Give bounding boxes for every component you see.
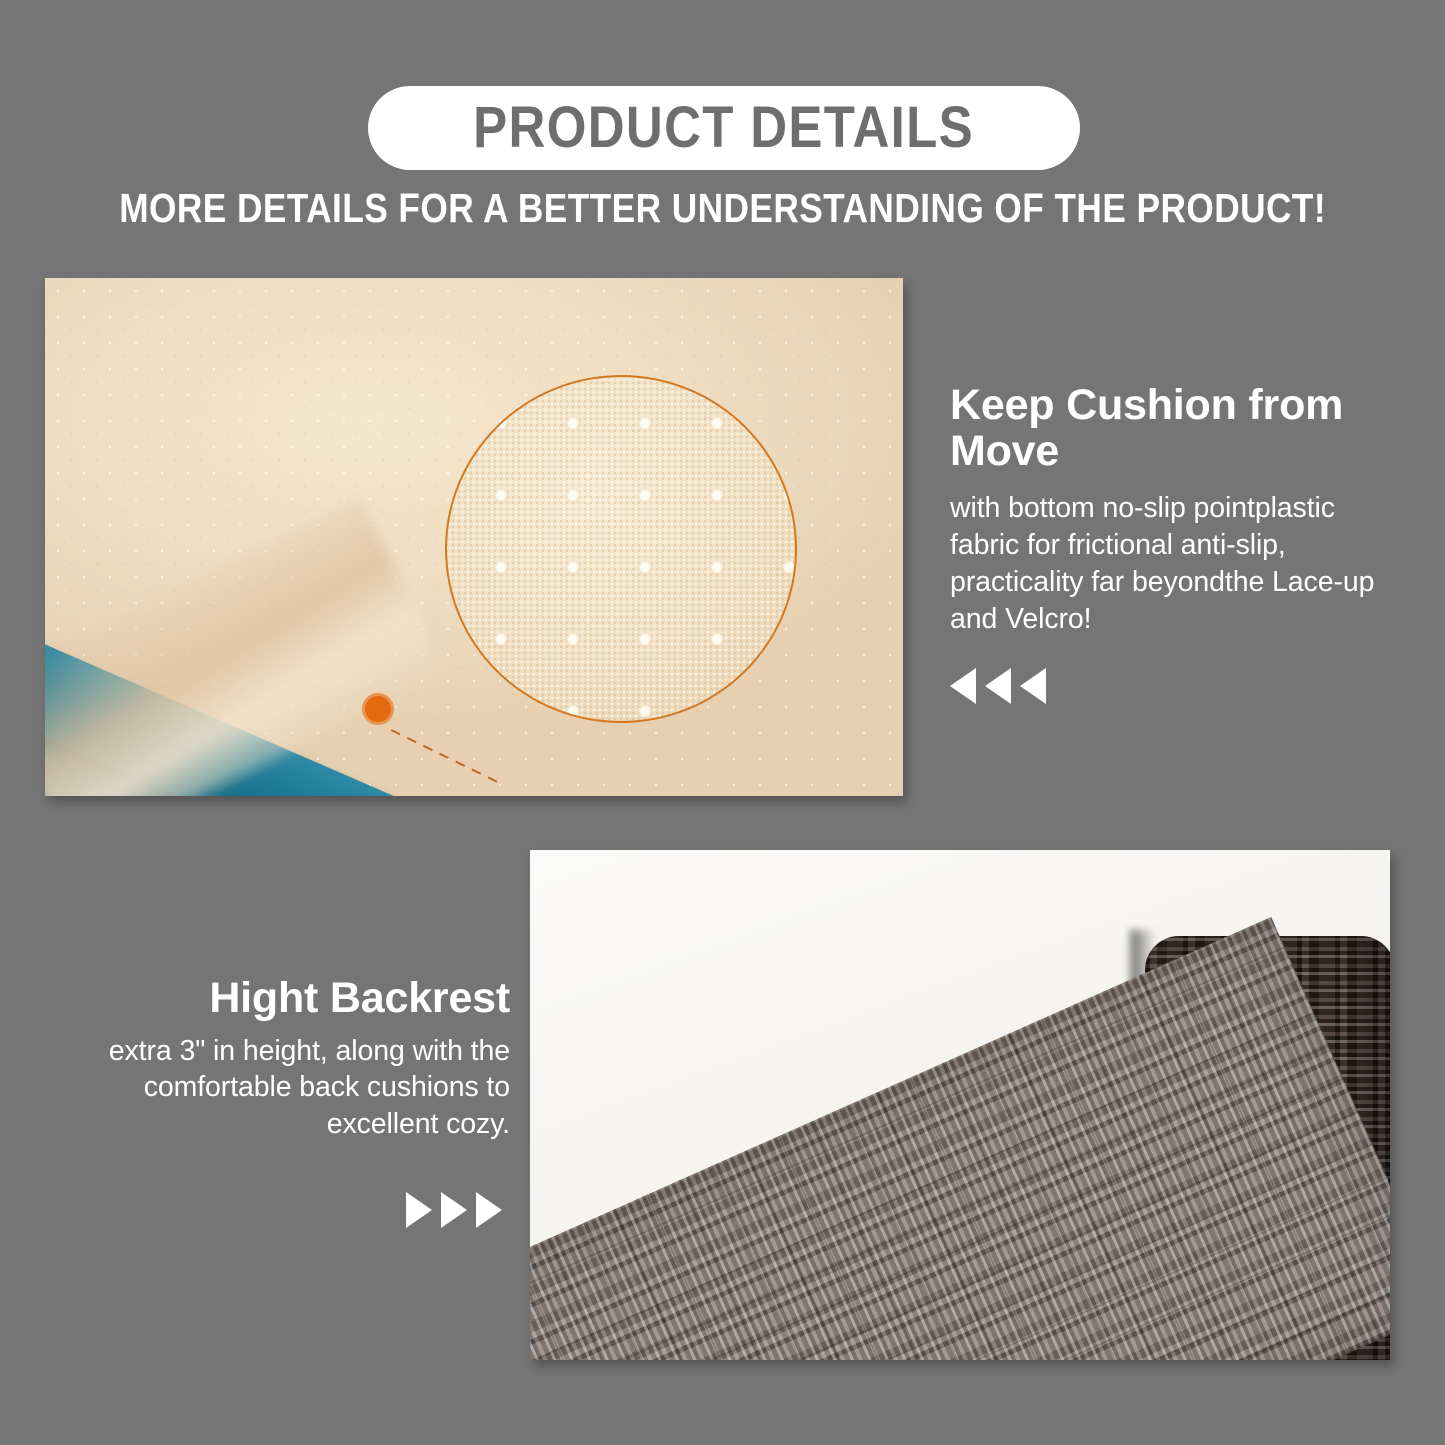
infographic-canvas: PRODUCT DETAILS MORE DETAILS FOR A BETTE… bbox=[0, 0, 1445, 1445]
feature-hight-backrest: Hight Backrest extra 3" in height, along… bbox=[60, 975, 510, 1228]
feature-heading: Hight Backrest bbox=[60, 975, 510, 1021]
cushion-photo bbox=[45, 278, 903, 796]
page-title: PRODUCT DETAILS bbox=[474, 99, 975, 157]
triangle-left-icon bbox=[1020, 668, 1046, 704]
triangle-right-icon bbox=[406, 1192, 432, 1228]
triangle-left-icon bbox=[985, 668, 1011, 704]
magnifier-circle-icon bbox=[445, 375, 797, 723]
rattan-photo bbox=[530, 850, 1390, 1360]
feature-body: with bottom no-slip pointplastic fabric … bbox=[950, 490, 1400, 638]
callout-dot-marker bbox=[362, 693, 394, 725]
left-arrow-group bbox=[950, 668, 1400, 704]
feature-body: extra 3" in height, along with the comfo… bbox=[60, 1033, 510, 1142]
page-title-pill: PRODUCT DETAILS bbox=[368, 86, 1080, 170]
feature-heading: Keep Cushion from Move bbox=[950, 382, 1400, 474]
page-subtitle: MORE DETAILS FOR A BETTER UNDERSTANDING … bbox=[0, 188, 1445, 229]
triangle-right-icon bbox=[441, 1192, 467, 1228]
triangle-left-icon bbox=[950, 668, 976, 704]
triangle-right-icon bbox=[476, 1192, 502, 1228]
right-arrow-group bbox=[60, 1192, 510, 1228]
magnified-grip-dots bbox=[447, 377, 795, 721]
feature-keep-cushion-from-move: Keep Cushion from Move with bottom no-sl… bbox=[950, 382, 1400, 704]
